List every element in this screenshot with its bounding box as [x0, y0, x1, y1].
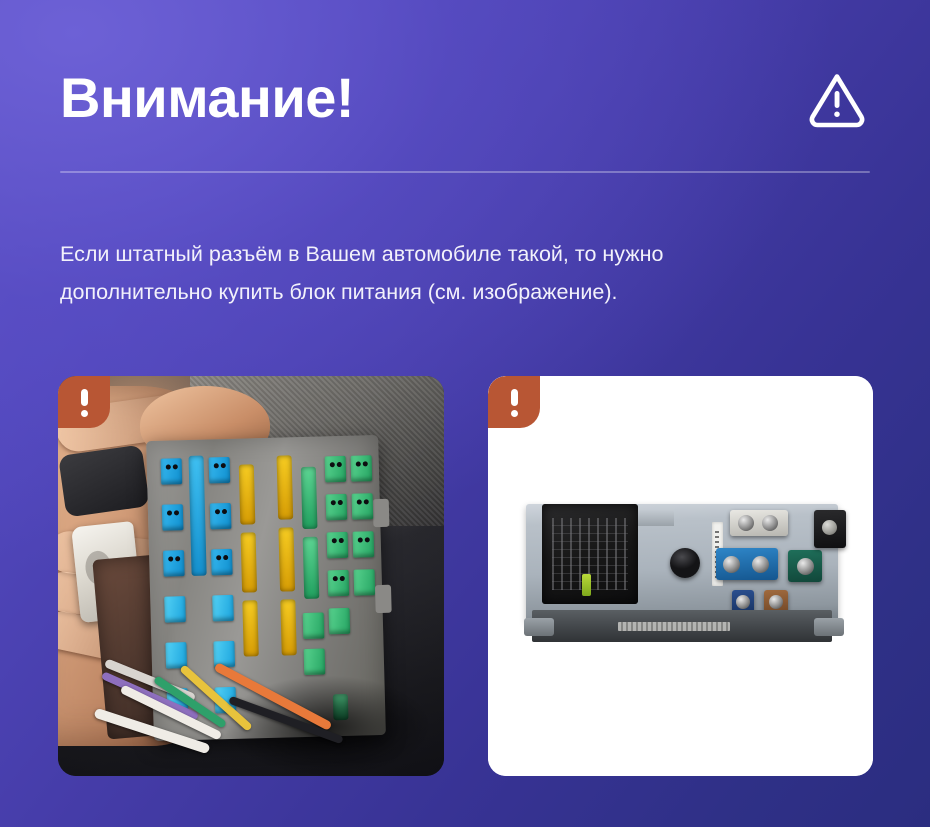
green-lock-tab — [582, 574, 591, 596]
round-knob — [670, 548, 700, 578]
notice-text-line-2: дополнительно купить блок питания (см. и… — [60, 273, 872, 311]
warning-triangle-icon — [806, 67, 868, 129]
mounting-foot — [524, 618, 554, 636]
warning-notice-page: Внимание! Если штатный разъём в Вашем ав… — [0, 0, 930, 827]
power-supply-unit-photo — [488, 376, 873, 776]
device-chassis — [526, 504, 838, 622]
warning-badge — [488, 376, 540, 428]
device-top-tab — [634, 510, 674, 526]
power-supply-device — [518, 498, 846, 648]
rubber-boot — [58, 444, 150, 517]
page-header: Внимание! — [60, 55, 870, 140]
exclamation-icon — [511, 389, 518, 406]
exclamation-dot — [81, 410, 88, 417]
mounting-foot — [814, 618, 844, 636]
exclamation-dot — [511, 410, 518, 417]
antenna-connector-green — [788, 550, 822, 582]
device-base-plate — [532, 610, 832, 642]
black-multipin-connector — [542, 504, 638, 604]
device-label-strip — [618, 622, 730, 631]
exclamation-icon — [81, 389, 88, 406]
warning-badge — [58, 376, 110, 428]
page-title: Внимание! — [60, 70, 354, 126]
connector-black-round — [814, 510, 846, 548]
image-card-row — [58, 376, 873, 776]
notice-text-line-1: Если штатный разъём в Вашем автомобиле т… — [60, 242, 663, 266]
factory-connector-photo — [58, 376, 444, 776]
antenna-connector-white — [730, 510, 788, 536]
card-power-supply-unit[interactable] — [488, 376, 873, 776]
card-factory-connector[interactable] — [58, 376, 444, 776]
header-divider — [60, 171, 870, 173]
antenna-connector-blue — [716, 548, 778, 580]
screw-icon — [822, 520, 837, 535]
notice-text: Если штатный разъём в Вашем автомобиле т… — [60, 235, 872, 311]
